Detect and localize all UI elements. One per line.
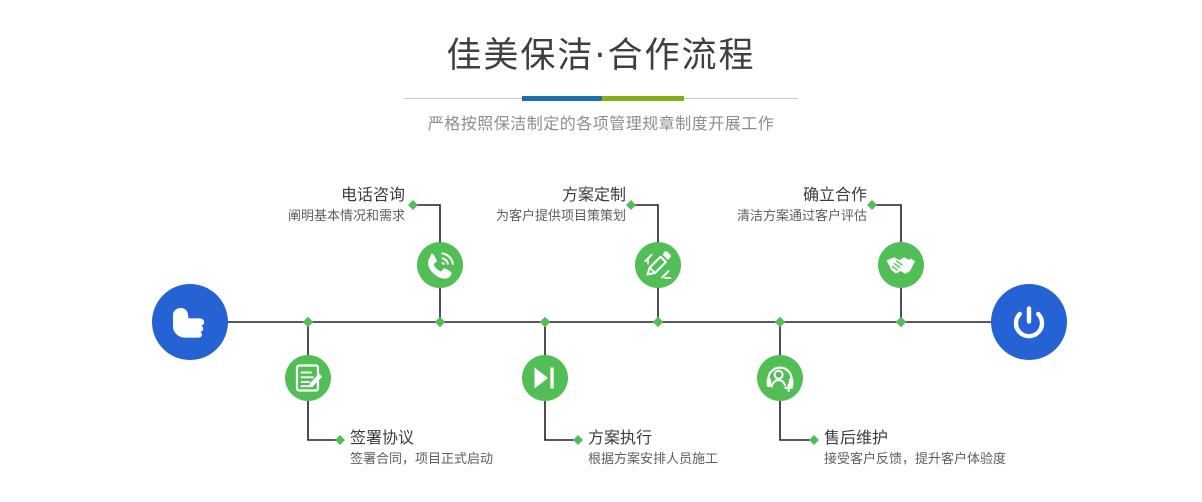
step-icon-4 <box>522 355 568 401</box>
step-title-6: 确立合作 <box>570 185 867 205</box>
step-label-5[interactable]: 售后维护 接受客户反馈，提升客户体验度 <box>824 428 1006 469</box>
step-title-2: 签署协议 <box>350 428 493 448</box>
step-title-5: 售后维护 <box>824 428 1006 448</box>
step-icon-6 <box>878 242 924 288</box>
process-flow-page: 佳美保洁·合作流程 严格按照保洁制定的各项管理规章制度开展工作 <box>0 0 1202 502</box>
step-icon-3 <box>635 242 681 288</box>
step-desc-6: 清洁方案通过客户评估 <box>570 208 867 226</box>
end-node <box>991 284 1067 360</box>
start-node <box>152 284 228 360</box>
step-desc-5: 接受客户反馈，提升客户体验度 <box>824 451 1006 469</box>
step-title-4: 方案执行 <box>588 428 718 448</box>
step-desc-4: 根据方案安排人员施工 <box>588 451 718 469</box>
step-label-2[interactable]: 签署协议 签署合同，项目正式启动 <box>350 428 493 469</box>
step-icon-1 <box>417 242 463 288</box>
step-desc-2: 签署合同，项目正式启动 <box>350 451 493 469</box>
step-label-4[interactable]: 方案执行 根据方案安排人员施工 <box>588 428 718 469</box>
step-icon-2 <box>285 355 331 401</box>
step-label-6[interactable]: 确立合作 清洁方案通过客户评估 <box>570 185 867 226</box>
step-icon-5 <box>757 355 803 401</box>
timeline-diagram <box>0 0 1202 502</box>
